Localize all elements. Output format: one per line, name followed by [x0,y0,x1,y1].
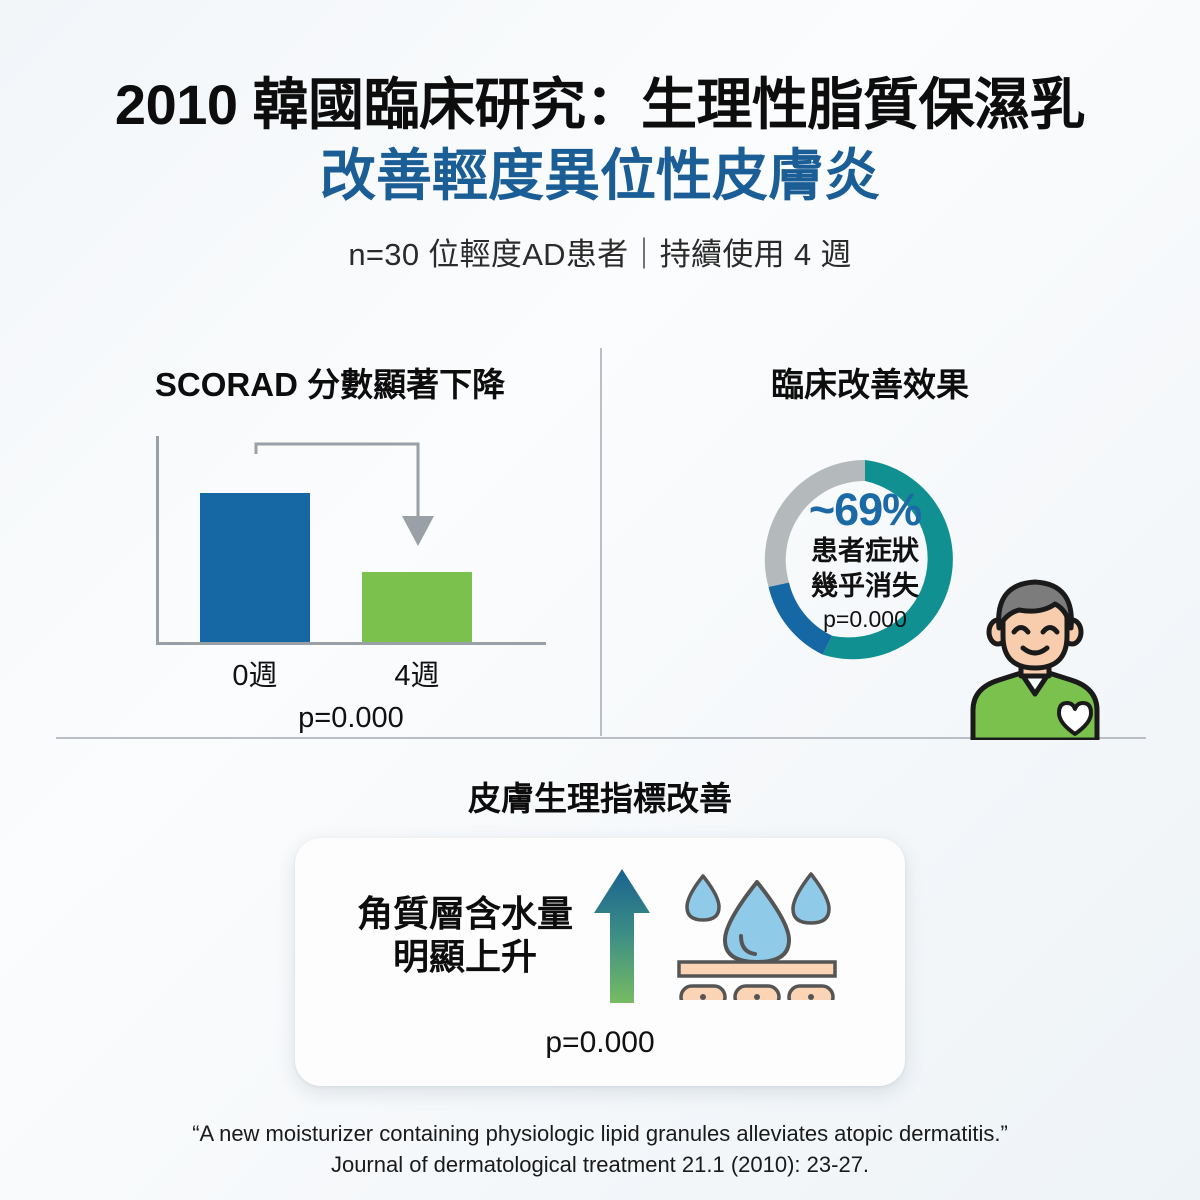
hydration-text-line1: 角質層含水量 [357,892,573,935]
donut-desc-line1: 患者症狀 [811,536,919,567]
study-subtitle: n=30 位輕度AD患者｜持續使用 4 週 [0,229,1200,274]
clinical-improvement-panel: ~69% 患者症狀 幾乎消失 p=0.000 [600,420,1140,720]
donut-pvalue: p=0.000 [823,606,907,633]
skin-hydration-icon [671,870,843,1000]
hydration-card: 角質層含水量 明顯上升 [295,838,905,1086]
page-title-line2: 改善輕度異位性皮膚炎 [0,143,1200,209]
citation-line2: Journal of dermatological treatment 21.1… [0,1149,1200,1180]
citation-block: “A new moisturizer containing physiologi… [0,1118,1200,1180]
up-arrow-icon [591,865,653,1005]
donut-panel-title: 臨床改善效果 [600,358,1140,406]
citation-line1: “A new moisturizer containing physiologi… [0,1118,1200,1149]
bar-chart-pvalue: p=0.000 [156,702,546,735]
hydration-text-line2: 明顯上升 [357,935,573,978]
infographic-canvas: 2010 韓國臨床研究：生理性脂質保濕乳 改善輕度異位性皮膚炎 n=30 位輕度… [0,0,1200,1200]
hydration-card-row: 角質層含水量 明顯上升 [295,860,905,1010]
bar-label-week4: 4週 [347,652,487,694]
donut-desc-line2: 幾乎消失 [811,571,919,602]
header-block: 2010 韓國臨床研究：生理性脂質保濕乳 改善輕度異位性皮膚炎 n=30 位輕度… [0,74,1200,274]
scorad-bar-chart: 0週 4週 p=0.000 [60,420,600,720]
page-title-line1: 2010 韓國臨床研究：生理性脂質保濕乳 [0,74,1200,137]
skin-panel-title: 皮膚生理指標改善 [0,772,1200,820]
bar-label-week0: 0週 [185,652,325,694]
hydration-card-text: 角質層含水量 明顯上升 [357,892,573,978]
bar-panel-title: SCORAD 分數顯著下降 [60,358,600,406]
donut-center-labels: ~69% 患者症狀 幾乎消失 p=0.000 [753,448,977,672]
donut-percent-value: ~69% [809,487,921,532]
decrease-arrow-icon [60,420,600,720]
patient-avatar-icon [955,570,1115,740]
hydration-pvalue: p=0.000 [295,1026,905,1060]
